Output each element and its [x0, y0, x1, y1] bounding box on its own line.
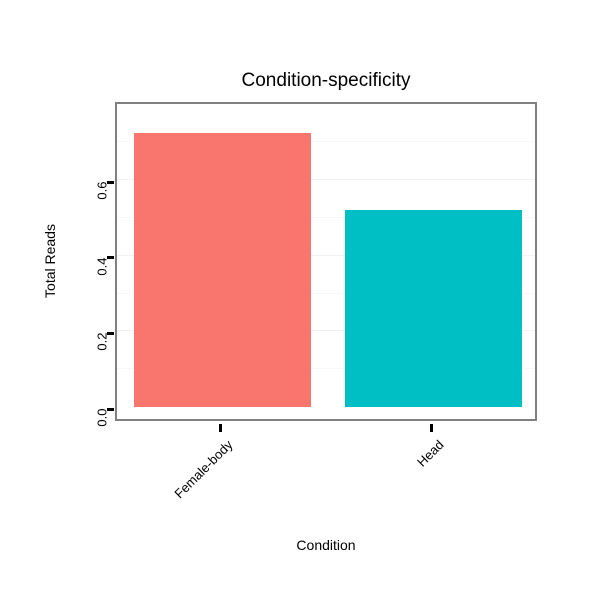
chart-container: Condition-specificity 0.60.40.20.0 Total… [0, 0, 600, 600]
plot-area [117, 104, 535, 419]
y-axis-title: Total Reads [42, 161, 58, 361]
y-axis-tick-label: 0.4 [95, 257, 110, 297]
chart-title: Condition-specificity [115, 70, 537, 92]
x-axis-tick-mark [219, 424, 222, 432]
x-axis-title: Condition [115, 537, 537, 553]
bar-head[interactable] [345, 210, 521, 407]
y-axis-tick-label: 0.6 [95, 182, 110, 222]
x-axis-tick-mark [430, 424, 433, 432]
bar-female-body[interactable] [134, 133, 310, 407]
y-axis-tick-label: 0.0 [95, 409, 110, 449]
y-axis-tick-label: 0.2 [95, 333, 110, 373]
plot-panel [115, 102, 537, 421]
